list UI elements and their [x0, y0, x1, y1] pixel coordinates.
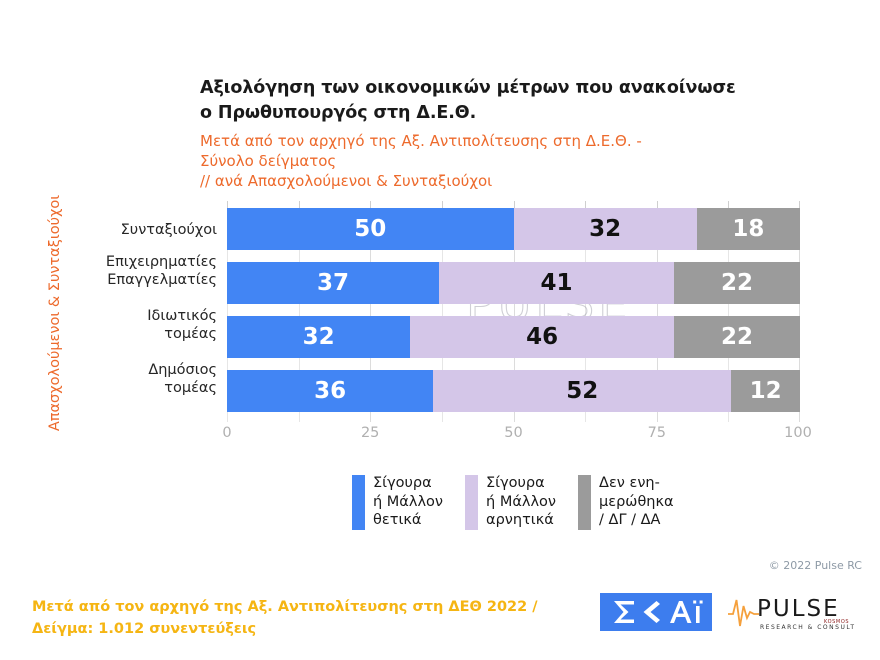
legend-item-positive[interactable]: Σίγουρα ή Μάλλον θετικά [352, 474, 443, 530]
table-row: 37 41 22 [227, 262, 800, 304]
bar-segment-negative: 52 [433, 370, 731, 412]
category-label: Συνταξιούχοι [67, 222, 217, 240]
legend: Σίγουρα ή Μάλλον θετικά Σίγουρα ή Μάλλον… [352, 474, 674, 530]
tick-mark [299, 201, 300, 208]
legend-item-negative[interactable]: Σίγουρα ή Μάλλον αρνητικά [465, 474, 556, 530]
x-tick-label: 25 [361, 425, 379, 441]
pulse-logo: PULSE KOSMOS RESEARCH & CONSULTING [728, 592, 856, 632]
bar-segment-positive: 37 [227, 262, 439, 304]
plot-area: PULSE RESEARCH & CONSULTING 50 32 18 37 … [227, 208, 800, 422]
x-axis: 0 25 50 75 100 [227, 425, 800, 449]
table-row: 36 52 12 [227, 370, 800, 412]
bar-segment-positive: 36 [227, 370, 433, 412]
y-axis-title: Απασχολούμενοι & Συνταξιούχοι [47, 183, 63, 443]
tick-mark [585, 201, 586, 208]
page-title: Αξιολόγηση των οικονομικών μέτρων που αν… [200, 76, 760, 127]
legend-label: Δεν ενη- μερώθηκα / ΔΓ / ΔΑ [599, 474, 674, 530]
x-tick-label: 75 [648, 425, 666, 441]
skai-logo [600, 593, 712, 631]
tick-mark [227, 201, 228, 208]
bar-segment-positive: 32 [227, 316, 410, 358]
bar-segment-negative: 46 [410, 316, 674, 358]
legend-swatch-icon [578, 475, 591, 530]
alpha-glyph [670, 601, 692, 623]
bar-segment-positive: 50 [227, 208, 514, 250]
diaeresis-right-dot [700, 601, 703, 604]
bar-segment-negative: 32 [514, 208, 697, 250]
diaeresis-left-dot [693, 601, 696, 604]
x-tick-label: 0 [222, 425, 231, 441]
title-block: Αξιολόγηση των οικονομικών μέτρων που αν… [200, 76, 760, 191]
chart-title-line1: Αξιολόγηση των οικονομικών μέτρων που αν… [200, 76, 760, 101]
bar-segment-dontknow: 12 [731, 370, 800, 412]
legend-label: Σίγουρα ή Μάλλον αρνητικά [486, 474, 556, 530]
pulse-tagline-text: RESEARCH & CONSULTING [760, 624, 856, 631]
bar-segment-dontknow: 22 [674, 262, 800, 304]
pulse-wave-icon [728, 600, 759, 626]
chart-title-line2: ο Πρωθυπουργός στη Δ.Ε.Θ. [200, 101, 760, 126]
table-row: 50 32 18 [227, 208, 800, 250]
legend-swatch-icon [352, 475, 365, 530]
bar-segment-dontknow: 22 [674, 316, 800, 358]
x-tick-label: 100 [784, 425, 812, 441]
category-label: Δημόσιος τομέας [67, 362, 217, 398]
chevron-glyph [644, 601, 661, 623]
tick-mark [514, 201, 515, 208]
x-tick-label: 50 [504, 425, 522, 441]
table-row: 32 46 22 [227, 316, 800, 358]
footer-note: Μετά από τον αρχηγό της Αξ. Αντιπολίτευσ… [32, 596, 538, 640]
category-label-group: Συνταξιούχοι Επιχειρηματίες Επαγγελματίε… [62, 208, 217, 422]
iota-glyph [696, 606, 700, 623]
legend-swatch-icon [465, 475, 478, 530]
copyright-text: © 2022 Pulse RC [769, 559, 862, 572]
tick-mark [370, 201, 371, 208]
bar-segment-negative: 41 [439, 262, 674, 304]
tick-mark [442, 201, 443, 208]
legend-label: Σίγουρα ή Μάλλον θετικά [373, 474, 443, 530]
tick-mark [799, 201, 800, 208]
legend-item-dontknow[interactable]: Δεν ενη- μερώθηκα / ΔΓ / ΔΑ [578, 474, 674, 530]
sigma-glyph [614, 601, 634, 623]
tick-mark [657, 201, 658, 208]
logo-group: PULSE KOSMOS RESEARCH & CONSULTING [600, 592, 856, 632]
tick-mark [728, 201, 729, 208]
category-label: Ιδιωτικός τομέας [67, 308, 217, 344]
bar-segment-dontknow: 18 [697, 208, 800, 250]
chart-subtitle: Μετά από τον αρχηγό της Αξ. Αντιπολίτευσ… [200, 131, 760, 191]
category-label: Επιχειρηματίες Επαγγελματίες [67, 254, 217, 290]
